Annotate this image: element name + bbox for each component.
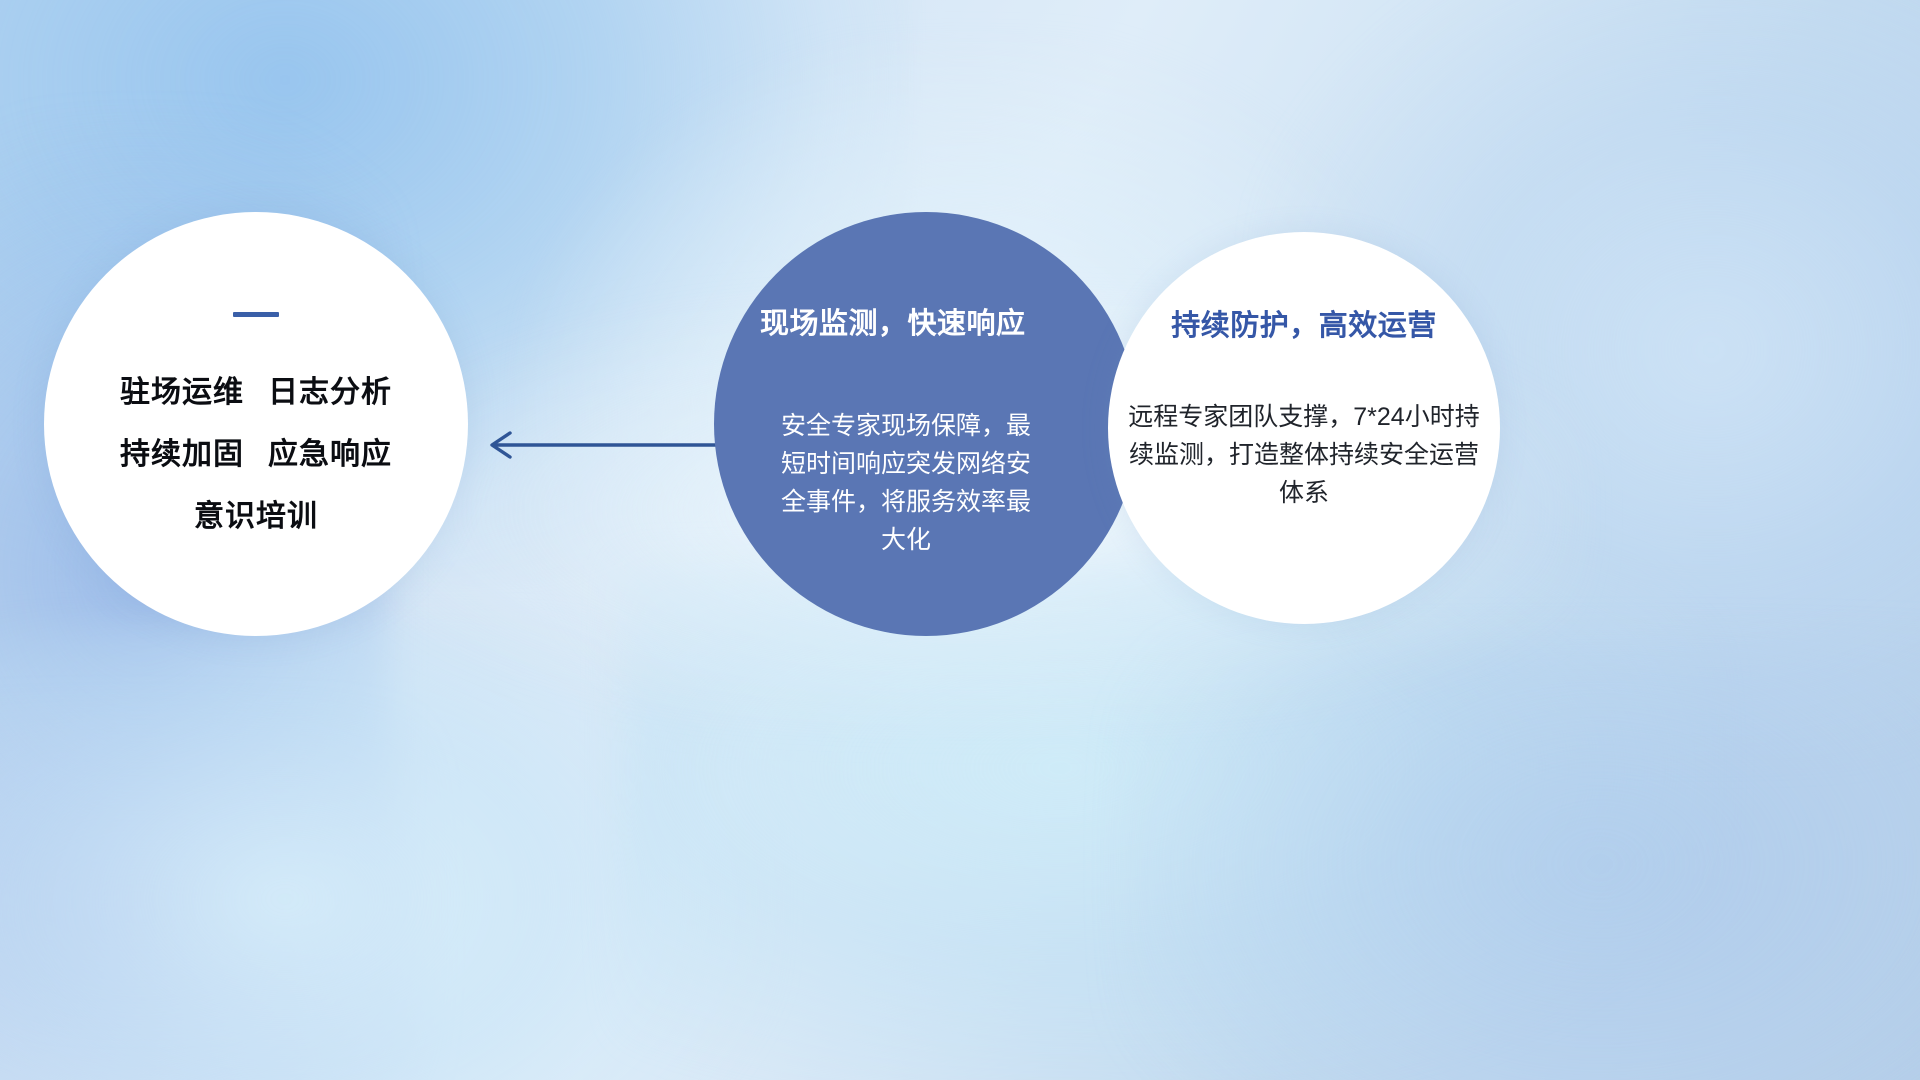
capability-label: 日志分析	[268, 376, 392, 409]
right-circle-body: 远程专家团队支撑，7*24小时持续监测，打造整体持续安全运营体系	[1128, 398, 1480, 512]
capability-row-3: 意识培训	[194, 491, 318, 535]
capability-circle-right[interactable]: 持续防护，高效运营 远程专家团队支撑，7*24小时持续监测，打造整体持续安全运营…	[1108, 232, 1500, 624]
capability-label: 意识培训	[194, 500, 318, 533]
capability-label: 持续加固	[120, 438, 244, 471]
middle-circle-title: 现场监测，快速响应	[760, 300, 1140, 342]
capability-circle-right-content: 持续防护，高效运营 远程专家团队支撑，7*24小时持续监测，打造整体持续安全运营…	[1108, 232, 1500, 624]
capability-circle-middle-content: 现场监测，快速响应 安全专家现场保障，最短时间响应突发网络安全事件，将服务效率最…	[714, 212, 1138, 636]
capability-row-2: 持续加固应急响应	[120, 429, 392, 473]
middle-circle-body: 安全专家现场保障，最短时间响应突发网络安全事件，将服务效率最大化	[770, 407, 1042, 559]
capability-row-1: 驻场运维日志分析	[120, 367, 392, 411]
capability-list: 驻场运维日志分析 持续加固应急响应 意识培训	[120, 367, 392, 535]
capability-label: 驻场运维	[120, 376, 244, 409]
slide-canvas: 驻场运维日志分析 持续加固应急响应 意识培训 现场监测，快速响应 安全专家现场保…	[0, 0, 1920, 1080]
capability-circle-left[interactable]: 驻场运维日志分析 持续加固应急响应 意识培训	[44, 212, 468, 636]
right-circle-title: 持续防护，高效运营	[1171, 302, 1437, 344]
accent-divider	[233, 312, 279, 317]
capability-label: 应急响应	[268, 438, 392, 471]
capability-circle-left-content: 驻场运维日志分析 持续加固应急响应 意识培训	[44, 212, 468, 636]
capability-circle-middle[interactable]: 现场监测，快速响应 安全专家现场保障，最短时间响应突发网络安全事件，将服务效率最…	[714, 212, 1138, 636]
